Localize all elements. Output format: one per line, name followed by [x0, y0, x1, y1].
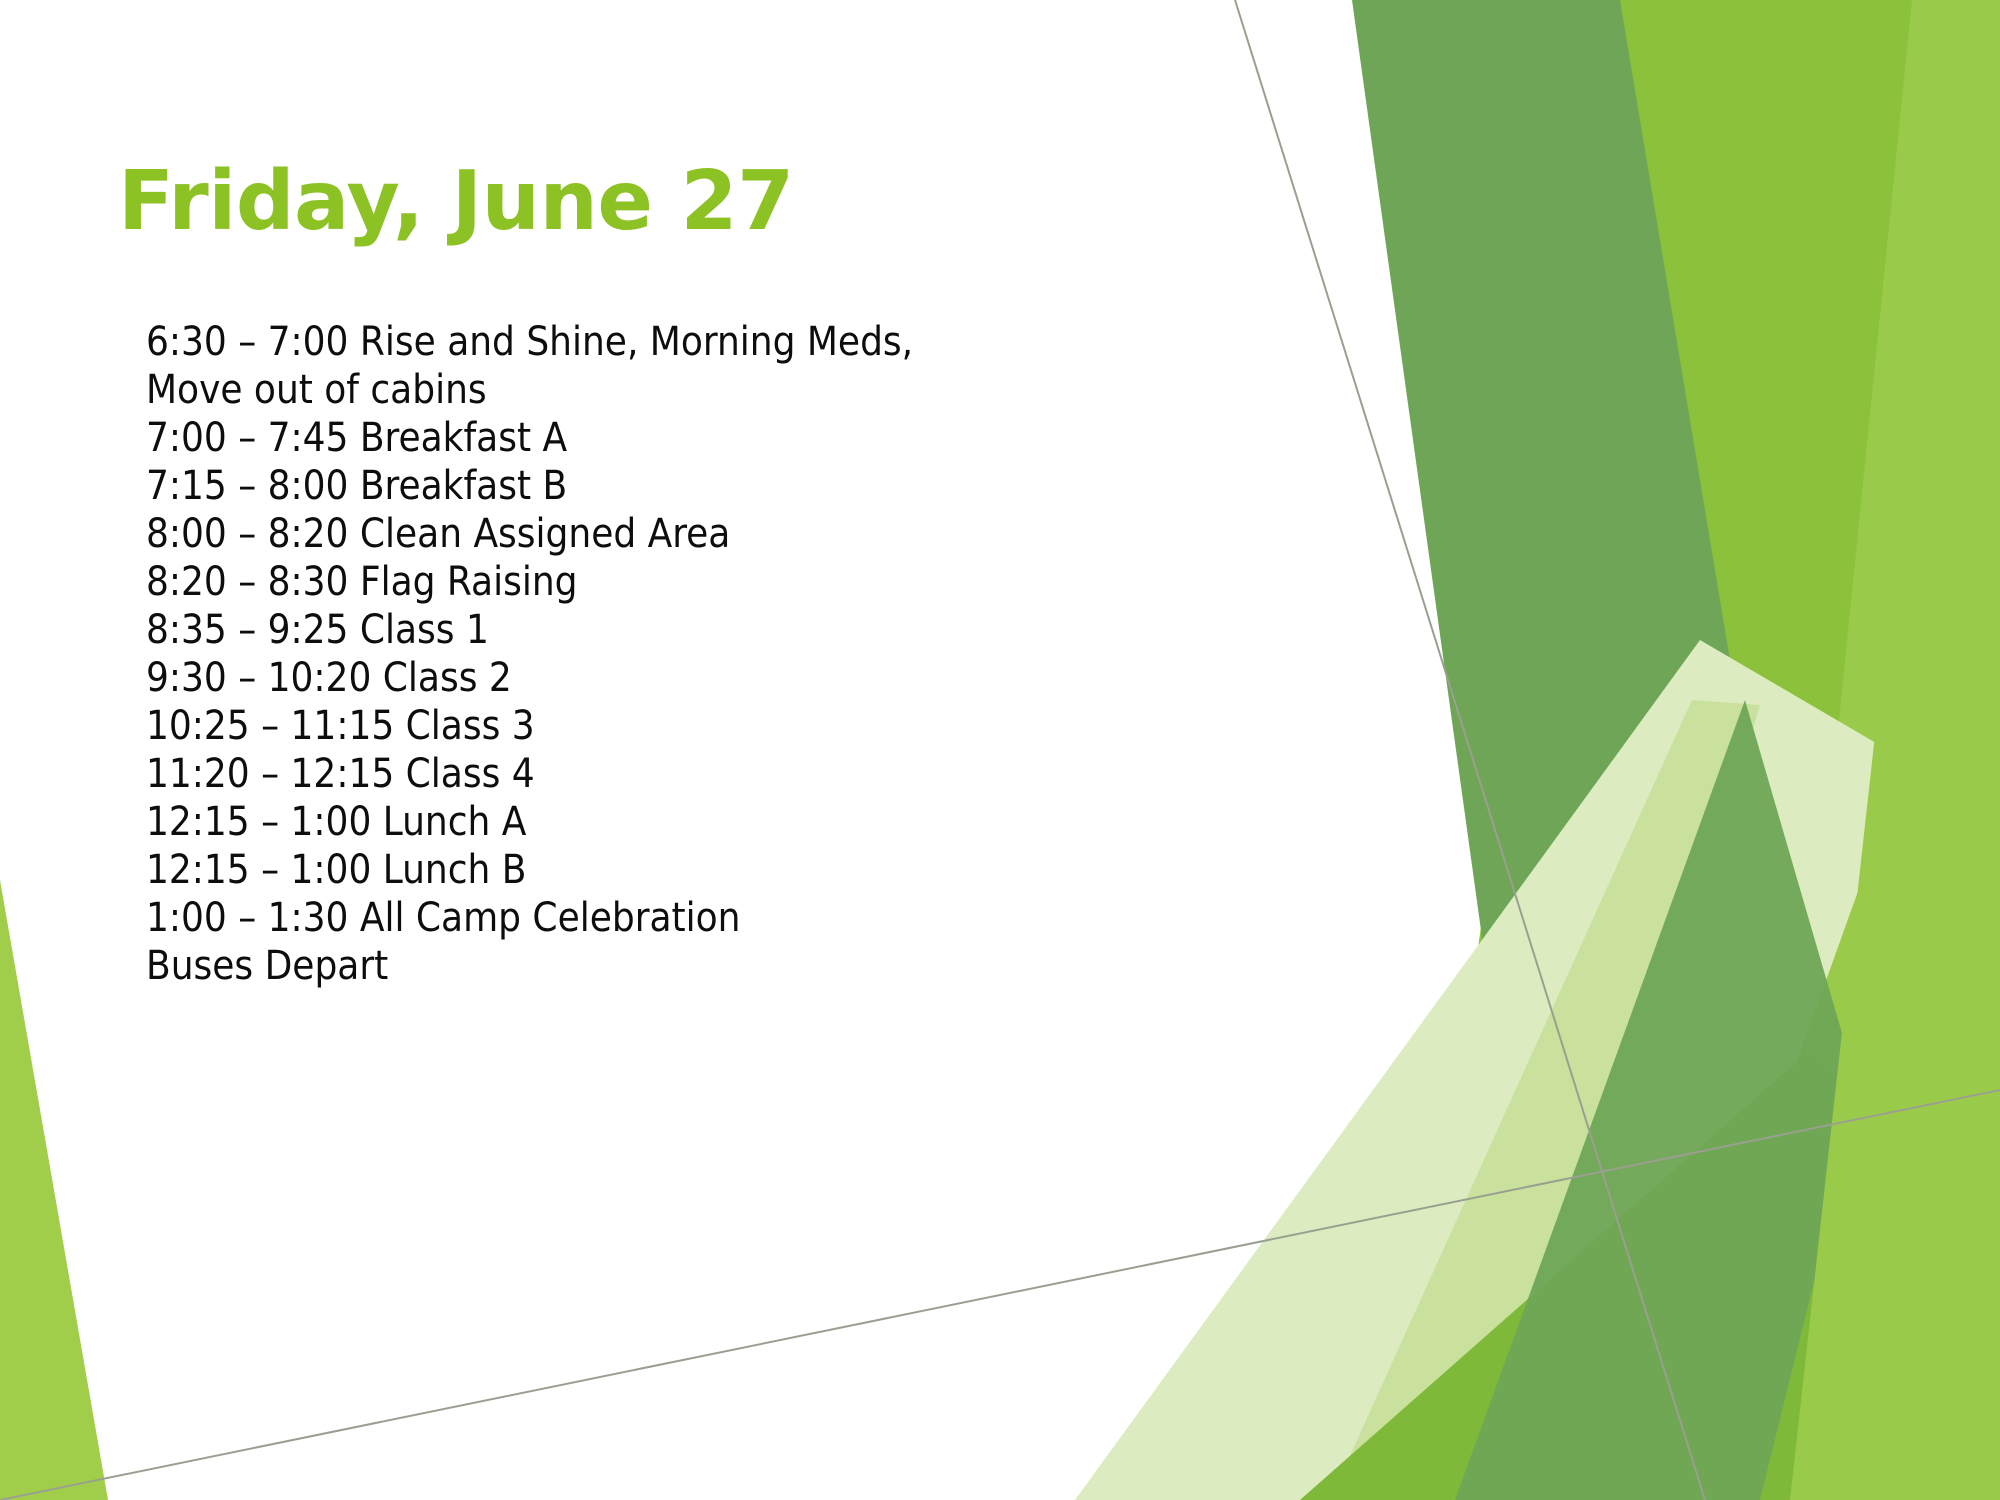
slide-canvas: Friday, June 27 6:30 – 7:00 Rise and Shi…: [0, 0, 2000, 1500]
right-mid-green-band-shape: [1400, 0, 1912, 1500]
dark-green-diagonal-band-shape: [1352, 0, 1870, 1500]
list-item: Buses Depart: [146, 942, 1166, 990]
schedule-list: 6:30 – 7:00 Rise and Shine, Morning Meds…: [146, 318, 1166, 990]
list-item: 10:25 – 11:15 Class 3: [146, 702, 1166, 750]
list-item: 7:15 – 8:00 Breakfast B: [146, 462, 1166, 510]
list-item: 12:15 – 1:00 Lunch A: [146, 798, 1166, 846]
page-title: Friday, June 27: [118, 159, 1218, 246]
list-item: Move out of cabins: [146, 366, 1166, 414]
right-bright-column-shape: [1730, 0, 2000, 1500]
list-item: 12:15 – 1:00 Lunch B: [146, 846, 1166, 894]
hairline-diagonal-upper: [1235, 0, 1705, 1500]
left-wedge-shape: [0, 880, 108, 1500]
list-item: 9:30 – 10:20 Class 2: [146, 654, 1166, 702]
bright-green-facet-right-shape: [1790, 690, 2000, 1500]
list-item: 8:00 – 8:20 Clean Assigned Area: [146, 510, 1166, 558]
list-item: 6:30 – 7:00 Rise and Shine, Morning Meds…: [146, 318, 1166, 366]
list-item: 7:00 – 7:45 Breakfast A: [146, 414, 1166, 462]
list-item: 11:20 – 12:15 Class 4: [146, 750, 1166, 798]
list-item: 1:00 – 1:30 All Camp Celebration: [146, 894, 1166, 942]
pale-facet-narrow-shape: [1330, 700, 1760, 1500]
list-item: 8:20 – 8:30 Flag Raising: [146, 558, 1166, 606]
list-item: 8:35 – 9:25 Class 1: [146, 606, 1166, 654]
dark-green-facet-shape: [1455, 700, 1860, 1500]
hairline-diagonal-lower: [0, 1090, 2000, 1500]
pale-facet-large-shape: [1075, 640, 1905, 1500]
mid-green-facet-shape: [1300, 1050, 1950, 1500]
